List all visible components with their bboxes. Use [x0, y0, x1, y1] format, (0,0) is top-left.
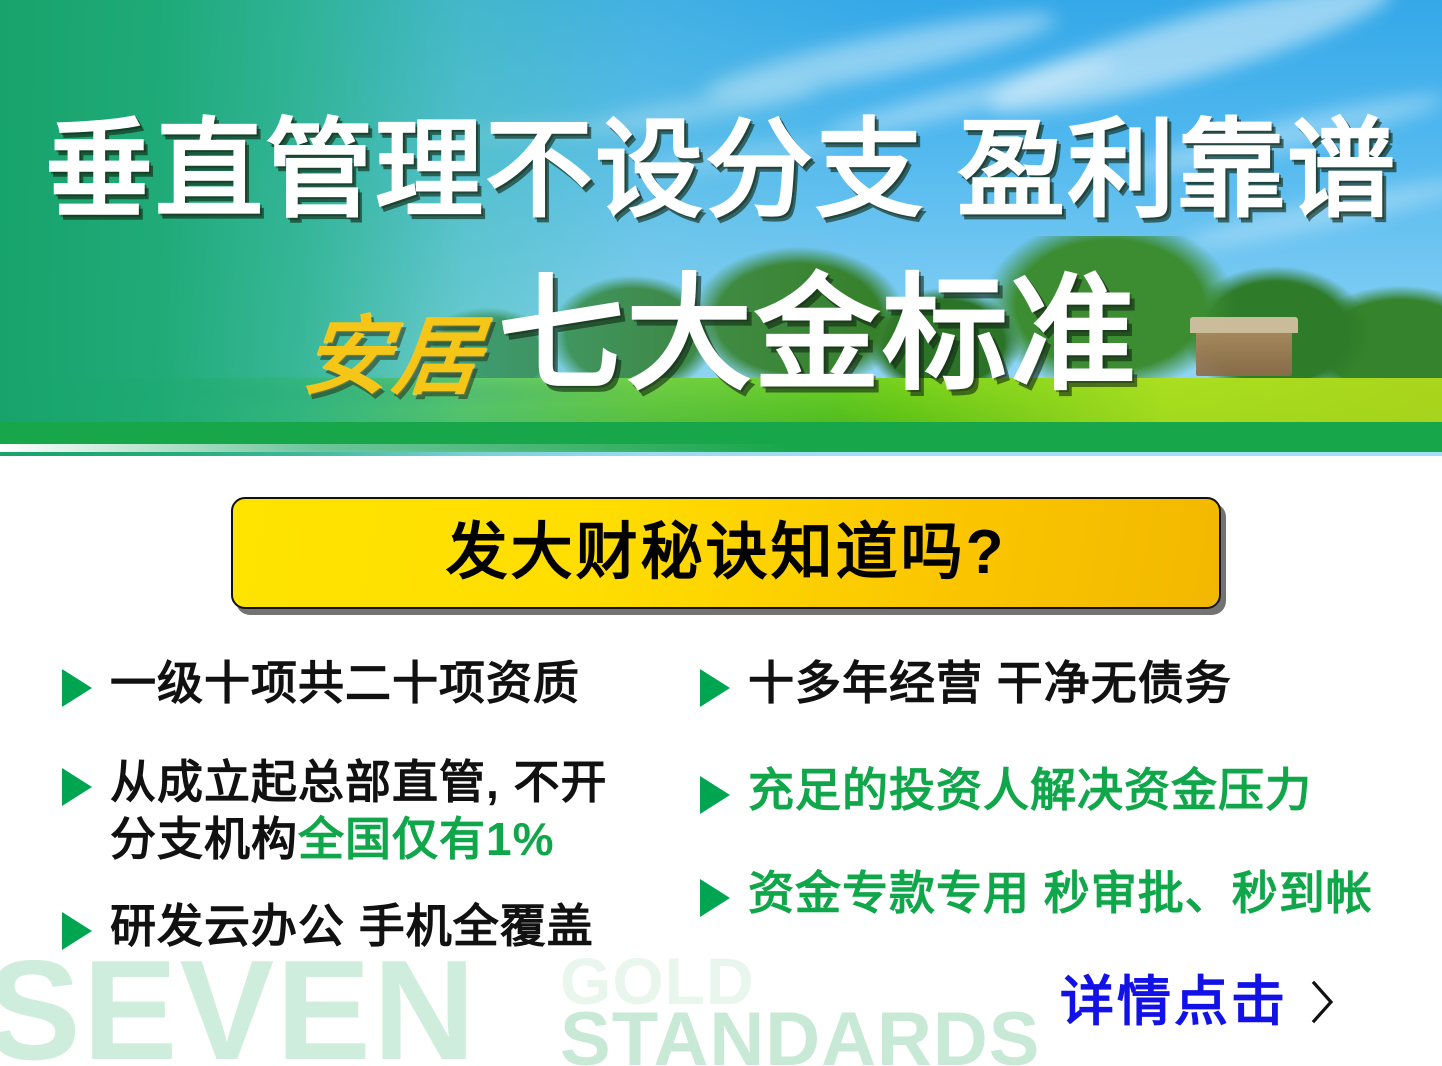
triangle-bullet-icon: [62, 912, 92, 950]
features-section: 一级十项共二十项资质 从成立起总部直管, 不开分支机构全国仅有1% 研发云办公 …: [0, 655, 1442, 995]
feature-item: 从成立起总部直管, 不开分支机构全国仅有1%: [62, 754, 702, 868]
green-divider-strip: [0, 422, 1442, 444]
watermark-standards: STANDARDS: [560, 1002, 1040, 1066]
feature-text: 十多年经营 干净无债务: [748, 655, 1232, 712]
feature-text: 资金专款专用 秒审批、秒到帐: [748, 865, 1373, 922]
hero-headline-secondary: 安居七大金标准: [0, 272, 1442, 400]
triangle-bullet-icon: [700, 776, 730, 814]
feature-text-line1: 从成立起总部直管, 不开: [110, 756, 608, 808]
hero-section: 垂直管理不设分支 盈利靠谱 安居七大金标准: [0, 0, 1442, 456]
triangle-bullet-icon: [62, 669, 92, 707]
brand-name: 安居: [299, 314, 488, 400]
triangle-bullet-icon: [700, 669, 730, 707]
feature-text: 充足的投资人解决资金压力: [748, 762, 1312, 819]
feature-item: 一级十项共二十项资质: [62, 655, 702, 712]
details-cta-link[interactable]: 详情点击: [1060, 975, 1336, 1029]
feature-text: 一级十项共二十项资质: [110, 655, 580, 712]
promo-banner-page: 垂直管理不设分支 盈利靠谱 安居七大金标准 发大财秘诀知道吗? SEVEN GO…: [0, 0, 1442, 1066]
features-column-left: 一级十项共二十项资质 从成立起总部直管, 不开分支机构全国仅有1% 研发云办公 …: [62, 655, 702, 989]
feature-item: 充足的投资人解决资金压力: [700, 762, 1420, 819]
accent-gradient-line: [0, 444, 1442, 452]
feature-text: 研发云办公 手机全覆盖: [110, 898, 594, 955]
cta-label: 详情点击: [1060, 975, 1288, 1029]
hero-headline-primary: 垂直管理不设分支 盈利靠谱: [0, 116, 1442, 224]
feature-text-highlight: 全国仅有1%: [298, 813, 554, 865]
question-banner-text: 发大财秘诀知道吗?: [446, 522, 1007, 584]
hero-headline-main: 七大金标准: [498, 272, 1138, 398]
chevron-right-icon: [1310, 980, 1336, 1024]
feature-item: 研发云办公 手机全覆盖: [62, 898, 702, 955]
feature-item: 资金专款专用 秒审批、秒到帐: [700, 865, 1420, 922]
feature-text: 从成立起总部直管, 不开分支机构全国仅有1%: [110, 754, 608, 868]
feature-text-line2-prefix: 分支机构: [110, 813, 298, 865]
triangle-bullet-icon: [62, 768, 92, 806]
question-banner[interactable]: 发大财秘诀知道吗?: [231, 497, 1221, 609]
features-column-right: 十多年经营 干净无债务 充足的投资人解决资金压力 资金专款专用 秒审批、秒到帐: [700, 655, 1420, 956]
triangle-bullet-icon: [700, 879, 730, 917]
feature-item: 十多年经营 干净无债务: [700, 655, 1420, 712]
